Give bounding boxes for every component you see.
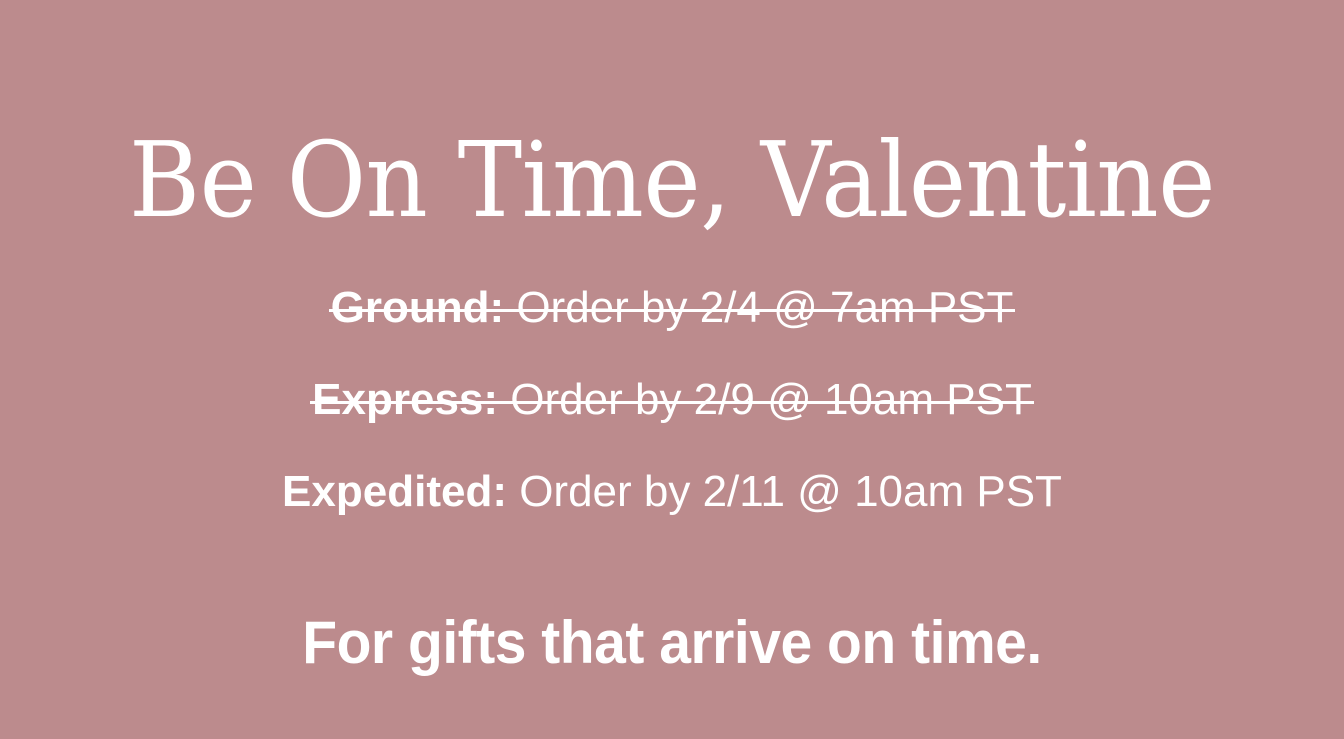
deadline-detail: Order by 2/11 @ 10am PST — [507, 467, 1062, 516]
deadline-detail: Order by 2/4 @ 7am PST — [504, 283, 1013, 332]
deadline-detail: Order by 2/9 @ 10am PST — [498, 375, 1032, 424]
list-item: Express: Order by 2/9 @ 10am PST — [0, 354, 1344, 446]
shipping-method-label: Expedited: — [282, 467, 507, 516]
deadline-text: Ground: Order by 2/4 @ 7am PST — [331, 262, 1014, 354]
deadline-text: Expedited: Order by 2/11 @ 10am PST — [282, 446, 1062, 538]
deadline-text: Express: Order by 2/9 @ 10am PST — [312, 354, 1032, 446]
shipping-method-label: Ground: — [331, 283, 505, 332]
list-item: Expedited: Order by 2/11 @ 10am PST — [0, 446, 1344, 538]
list-item: Ground: Order by 2/4 @ 7am PST — [0, 262, 1344, 354]
valentine-shipping-deadline-banner: Be On Time, Valentine Ground: Order by 2… — [0, 0, 1344, 739]
tagline: For gifts that arrive on time. — [34, 608, 1311, 678]
shipping-deadline-list: Ground: Order by 2/4 @ 7am PST Express: … — [0, 262, 1344, 538]
shipping-method-label: Express: — [312, 375, 498, 424]
page-title: Be On Time, Valentine — [47, 122, 1297, 238]
